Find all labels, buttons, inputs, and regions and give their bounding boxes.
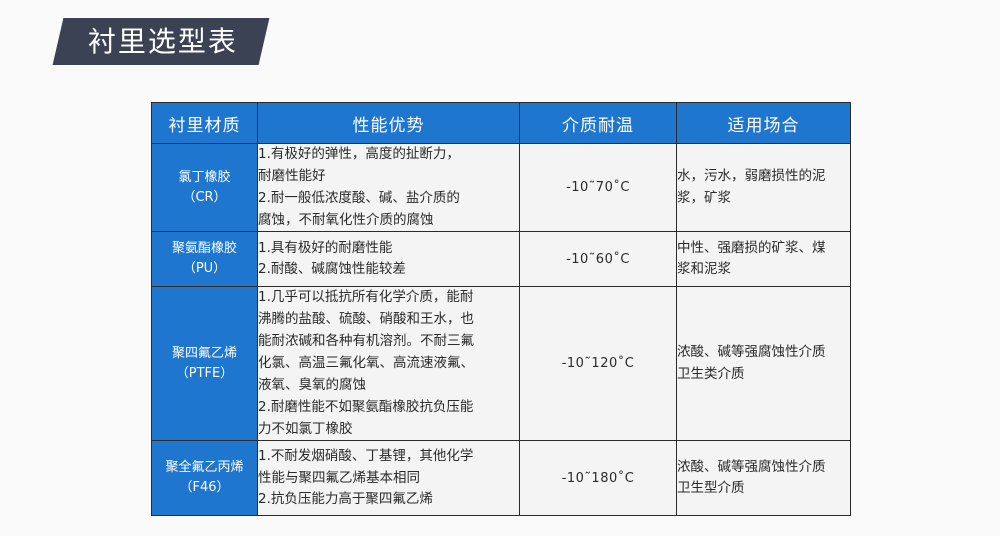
usage-line: 卫生型介质 <box>677 478 850 500</box>
cell-usage-cr: 水，污水，弱磨损性的泥 浆，矿浆 <box>677 144 851 232</box>
cell-temperature-f46: -10˜180˚C <box>520 441 677 516</box>
cell-performance-pu: 1.具有极好的耐磨性能 2.耐酸、碱腐蚀性能较差 <box>258 232 520 287</box>
cell-material-f46: 聚全氟乙丙烯 （F46） <box>152 441 258 516</box>
usage-line: 浓酸、碱等强腐蚀性介质 <box>677 457 850 479</box>
usage-line: 水，污水，弱磨损性的泥 <box>677 166 850 188</box>
table-header: 衬里材质 性能优势 介质耐温 适用场合 <box>152 103 851 144</box>
cell-performance-ptfe: 1.几乎可以抵抗所有化学介质，能耐 沸腾的盐酸、硫酸、硝酸和王水，也 能耐浓碱和… <box>258 287 520 441</box>
usage-line: 浆和泥浆 <box>677 259 850 281</box>
material-code: （PU） <box>152 259 257 279</box>
cell-temperature-cr: -10˜70˚C <box>520 144 677 232</box>
usage-line: 卫生类介质 <box>677 364 850 386</box>
column-header-material: 衬里材质 <box>152 103 258 144</box>
usage-line: 浆，矿浆 <box>677 188 850 210</box>
performance-line: 液氧、臭氧的腐蚀 <box>258 375 519 397</box>
column-header-performance: 性能优势 <box>258 103 520 144</box>
cell-usage-f46: 浓酸、碱等强腐蚀性介质 卫生型介质 <box>677 441 851 516</box>
material-code: （PTFE） <box>152 364 257 384</box>
table-body: 氯丁橡胶 （CR） 1.有极好的弹性，高度的扯断力， 耐磨性能好 2.耐一般低浓… <box>152 144 851 516</box>
material-name: 聚全氟乙丙烯 <box>152 458 257 478</box>
page-title: 衬里选型表 <box>88 28 238 56</box>
cell-usage-pu: 中性、强磨损的矿浆、煤 浆和泥浆 <box>677 232 851 287</box>
lining-selection-table-container: 衬里材质 性能优势 介质耐温 适用场合 氯丁橡胶 （CR） 1.有极好的弹性，高… <box>151 102 850 516</box>
cell-temperature-pu: -10˜60˚C <box>520 232 677 287</box>
page-title-banner: 衬里选型表 <box>53 18 270 65</box>
material-code: （F46） <box>152 478 257 498</box>
lining-selection-table: 衬里材质 性能优势 介质耐温 适用场合 氯丁橡胶 （CR） 1.有极好的弹性，高… <box>151 102 851 516</box>
cell-performance-f46: 1.不耐发烟硝酸、丁基锂，其他化学 性能与聚四氟乙烯基本相同 2.抗负压能力高于… <box>258 441 520 516</box>
cell-usage-ptfe: 浓酸、碱等强腐蚀性介质 卫生类介质 <box>677 287 851 441</box>
cell-performance-cr: 1.有极好的弹性，高度的扯断力， 耐磨性能好 2.耐一般低浓度酸、碱、盐介质的 … <box>258 144 520 232</box>
table-row: 聚四氟乙烯 （PTFE） 1.几乎可以抵抗所有化学介质，能耐 沸腾的盐酸、硫酸、… <box>152 287 851 441</box>
performance-line: 腐蚀，不耐氧化性介质的腐蚀 <box>258 210 519 232</box>
material-name: 聚氨酯橡胶 <box>152 239 257 259</box>
material-name: 氯丁橡胶 <box>152 168 257 188</box>
table-row: 聚氨酯橡胶 （PU） 1.具有极好的耐磨性能 2.耐酸、碱腐蚀性能较差 -10˜… <box>152 232 851 287</box>
performance-line: 性能与聚四氟乙烯基本相同 <box>258 468 519 490</box>
performance-line: 力不如氯丁橡胶 <box>258 419 519 441</box>
performance-line: 2.耐酸、碱腐蚀性能较差 <box>258 259 519 281</box>
performance-line: 2.抗负压能力高于聚四氟乙烯 <box>258 489 519 511</box>
performance-line: 1.有极好的弹性，高度的扯断力， <box>258 144 519 166</box>
column-header-usage: 适用场合 <box>677 103 851 144</box>
cell-temperature-ptfe: -10˜120˚C <box>520 287 677 441</box>
table-row: 氯丁橡胶 （CR） 1.有极好的弹性，高度的扯断力， 耐磨性能好 2.耐一般低浓… <box>152 144 851 232</box>
performance-line: 1.几乎可以抵抗所有化学介质，能耐 <box>258 287 519 309</box>
column-header-temperature: 介质耐温 <box>520 103 677 144</box>
cell-material-ptfe: 聚四氟乙烯 （PTFE） <box>152 287 258 441</box>
table-header-row: 衬里材质 性能优势 介质耐温 适用场合 <box>152 103 851 144</box>
usage-line: 浓酸、碱等强腐蚀性介质 <box>677 342 850 364</box>
table-row: 聚全氟乙丙烯 （F46） 1.不耐发烟硝酸、丁基锂，其他化学 性能与聚四氟乙烯基… <box>152 441 851 516</box>
cell-material-pu: 聚氨酯橡胶 （PU） <box>152 232 258 287</box>
performance-line: 2.耐磨性能不如聚氨酯橡胶抗负压能 <box>258 397 519 419</box>
performance-line: 耐磨性能好 <box>258 166 519 188</box>
material-code: （CR） <box>152 188 257 208</box>
performance-line: 化氯、高温三氟化氧、高流速液氟、 <box>258 353 519 375</box>
cell-material-cr: 氯丁橡胶 （CR） <box>152 144 258 232</box>
performance-line: 能耐浓碱和各种有机溶剂。不耐三氟 <box>258 331 519 353</box>
performance-line: 2.耐一般低浓度酸、碱、盐介质的 <box>258 188 519 210</box>
material-name: 聚四氟乙烯 <box>152 344 257 364</box>
performance-line: 沸腾的盐酸、硫酸、硝酸和王水，也 <box>258 309 519 331</box>
performance-line: 1.具有极好的耐磨性能 <box>258 238 519 260</box>
usage-line: 中性、强磨损的矿浆、煤 <box>677 238 850 260</box>
performance-line: 1.不耐发烟硝酸、丁基锂，其他化学 <box>258 446 519 468</box>
